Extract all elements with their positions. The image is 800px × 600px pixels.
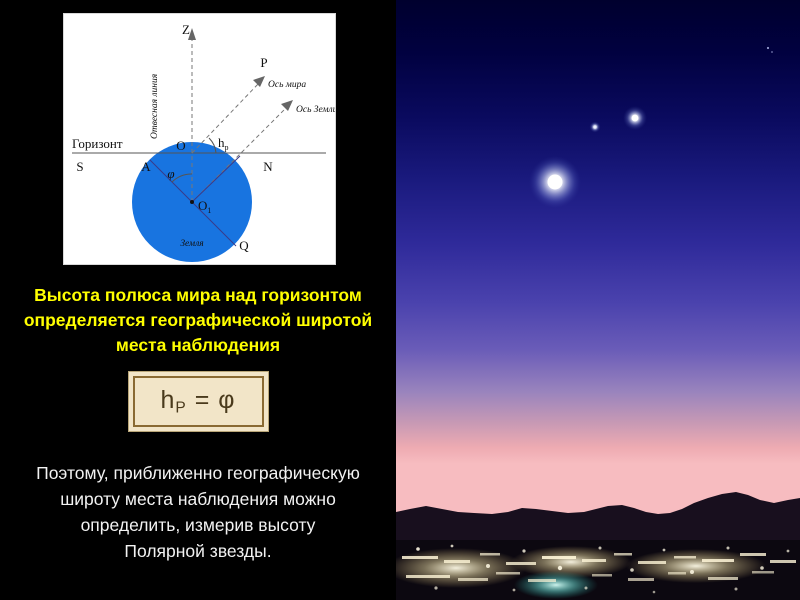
formula-box: hP = φ xyxy=(128,371,269,432)
label-height-hp: hp xyxy=(218,135,229,152)
sky-gradient xyxy=(396,0,800,530)
earth-axis-arrowhead xyxy=(281,100,293,111)
label-zenith: Z xyxy=(182,22,190,37)
label-north: N xyxy=(263,159,273,174)
paragraph-line-4: Полярной звезды. xyxy=(4,538,392,564)
paragraph-line-3: определить, измерив высоту xyxy=(4,512,392,538)
paragraph-line-1: Поэтому, приближенно географическую xyxy=(4,460,392,486)
venus-core xyxy=(548,175,563,190)
heading-line-1: Высота полюса мира над горизонтом xyxy=(4,283,392,308)
slide-heading: Высота полюса мира над горизонтом опреде… xyxy=(4,283,392,358)
label-world-axis: Ось мира xyxy=(268,80,306,90)
formula-box-inner-border: hP = φ xyxy=(133,376,264,427)
label-point-a: A xyxy=(141,159,151,174)
left-content-column: Z P S N A Q O O1 hp φ Горизонт Отвесная … xyxy=(0,0,396,600)
presentation-slide: Z P S N A Q O O1 hp φ Горизонт Отвесная … xyxy=(0,0,800,600)
label-south: S xyxy=(76,159,83,174)
world-axis-arrowhead xyxy=(253,76,265,87)
celestial-sphere-diagram: Z P S N A Q O O1 hp φ Горизонт Отвесная … xyxy=(63,13,336,265)
diagram-svg: Z P S N A Q O O1 hp φ Горизонт Отвесная … xyxy=(64,14,336,265)
heading-line-3: места наблюдения xyxy=(4,333,392,358)
formula-operator: = xyxy=(195,386,211,414)
label-phi: φ xyxy=(167,166,174,181)
earth-center-dot xyxy=(190,200,194,204)
formula-lhs: h xyxy=(161,386,176,414)
city-glow-cyan xyxy=(514,571,598,599)
formula-container: hP = φ xyxy=(0,371,396,432)
label-horizon: Горизонт xyxy=(72,136,123,151)
label-plumb-line: Отвесная линия xyxy=(150,74,160,139)
label-origin-o: O xyxy=(176,138,185,153)
label-earth-axis: Ось Земли xyxy=(296,105,336,115)
star-tiny-1 xyxy=(767,47,769,49)
label-point-q: Q xyxy=(239,238,249,253)
star-bright-core xyxy=(632,115,639,122)
paragraph-line-2: широту места наблюдения можно xyxy=(4,486,392,512)
photo-svg xyxy=(396,0,800,600)
formula-rhs: φ xyxy=(218,386,235,414)
twilight-sky-photo xyxy=(396,0,800,600)
formula-expression: hP = φ xyxy=(161,386,236,417)
star-faint-core xyxy=(594,126,597,129)
formula-lhs-subscript: P xyxy=(175,399,186,416)
label-pole: P xyxy=(260,55,267,70)
star-tiny-2 xyxy=(771,51,773,53)
heading-line-2: определяется географической широтой xyxy=(4,308,392,333)
slide-body-paragraph: Поэтому, приближенно географическую широ… xyxy=(4,460,392,564)
label-earth: Земля xyxy=(180,239,203,249)
